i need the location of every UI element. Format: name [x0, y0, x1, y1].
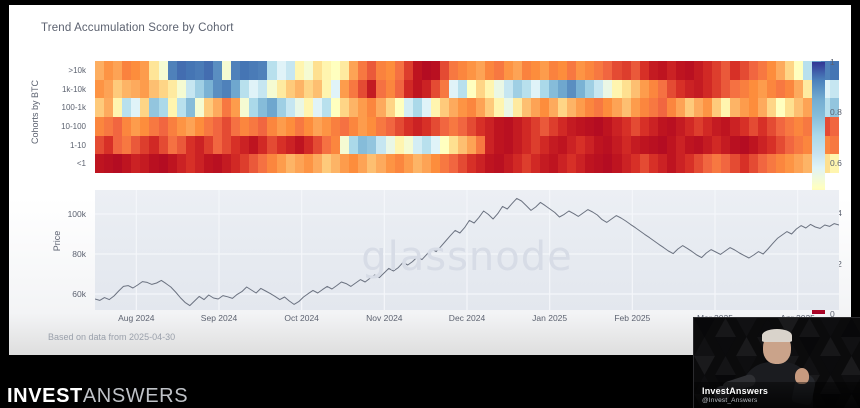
heatmap-cell — [449, 117, 458, 136]
heatmap-cell — [304, 61, 313, 80]
x-axis-tick: Jan 2025 — [532, 313, 567, 323]
heatmap-cell — [785, 80, 794, 99]
heatmap-cell — [794, 117, 803, 136]
heatmap-cell — [776, 154, 785, 173]
heatmap-cell — [440, 61, 449, 80]
heatmap-cell — [267, 98, 276, 117]
heatmap-cell — [640, 117, 649, 136]
heatmap-cell — [522, 117, 531, 136]
heatmap-cell — [558, 98, 567, 117]
heatmap-cell — [558, 80, 567, 99]
heatmap-cell — [422, 80, 431, 99]
heatmap-cell — [449, 154, 458, 173]
heatmap-cell — [594, 117, 603, 136]
heatmap-cell — [485, 61, 494, 80]
heatmap-cell — [494, 136, 503, 155]
heatmap-cell — [794, 136, 803, 155]
heatmap-y-axis-ticks: >10k1k-10k100-1k10-1001-10<1 — [52, 61, 90, 173]
heatmap-cell — [340, 98, 349, 117]
heatmap-cell — [694, 154, 703, 173]
heatmap-cell — [803, 98, 812, 117]
heatmap-cell — [404, 80, 413, 99]
heatmap-cell — [540, 61, 549, 80]
heatmap-cell — [440, 154, 449, 173]
x-axis-tick: Aug 2024 — [118, 313, 154, 323]
heatmap-cell — [558, 117, 567, 136]
wall-panel — [841, 337, 860, 356]
heatmap-cell — [149, 98, 158, 117]
heatmap-cell — [186, 80, 195, 99]
heatmap-cell — [113, 154, 122, 173]
heatmap-cell — [449, 98, 458, 117]
wall-panel — [841, 318, 860, 337]
heatmap-cell — [730, 98, 739, 117]
heatmap-cell — [249, 98, 258, 117]
heatmap-cell — [758, 98, 767, 117]
heatmap-cell — [740, 136, 749, 155]
heatmap-cell — [522, 61, 531, 80]
heatmap-cell — [440, 117, 449, 136]
heatmap-cell — [140, 117, 149, 136]
price-plot-area[interactable]: glassnode — [95, 190, 839, 310]
heatmap-cell — [295, 98, 304, 117]
heatmap-cell — [149, 80, 158, 99]
heatmap-cell — [286, 136, 295, 155]
heatmap-cell — [485, 80, 494, 99]
heatmap-cell — [376, 61, 385, 80]
heatmap-row — [95, 117, 839, 136]
heatmap-cell — [558, 154, 567, 173]
heatmap-cell — [322, 61, 331, 80]
heatmap-cell — [340, 80, 349, 99]
heatmap-cell — [386, 117, 395, 136]
heatmap-cell — [703, 98, 712, 117]
heatmap-cell — [313, 117, 322, 136]
heatmap-cell — [476, 154, 485, 173]
heatmap-chart: Cohorts by BTC >10k1k-10k100-1k10-1001-1… — [52, 57, 839, 177]
heatmap-cell — [258, 98, 267, 117]
heatmap-cell — [340, 136, 349, 155]
heatmap-cell — [267, 80, 276, 99]
heatmap-cell — [622, 117, 631, 136]
heatmap-cell — [177, 80, 186, 99]
heatmap-cell — [458, 98, 467, 117]
heatmap-cell — [104, 80, 113, 99]
price-y-tick: 60k — [72, 289, 86, 299]
heatmap-cell — [712, 80, 721, 99]
heatmap-cell — [204, 117, 213, 136]
heatmap-cell — [594, 154, 603, 173]
heatmap-cell — [640, 136, 649, 155]
heatmap-cell — [476, 98, 485, 117]
heatmap-cell — [168, 154, 177, 173]
heatmap-cell — [667, 98, 676, 117]
heatmap-cell — [476, 61, 485, 80]
heatmap-cell — [658, 154, 667, 173]
heatmap-cell — [249, 117, 258, 136]
heatmap-cell — [549, 136, 558, 155]
heatmap-cell — [113, 80, 122, 99]
data-date-footer: Based on data from 2025-04-30 — [48, 332, 175, 342]
heatmap-cell — [794, 154, 803, 173]
heatmap-cell — [376, 80, 385, 99]
heatmap-cell — [631, 80, 640, 99]
heatmap-cell — [304, 154, 313, 173]
heatmap-cell — [640, 154, 649, 173]
brand-logo: INVESTANSWERS — [7, 385, 188, 408]
heatmap-cell — [758, 154, 767, 173]
heatmap-cell — [712, 117, 721, 136]
wall-panel — [820, 356, 841, 375]
heatmap-cell — [367, 117, 376, 136]
heatmap-cell — [159, 80, 168, 99]
heatmap-y-tick: <1 — [52, 154, 90, 173]
heatmap-cell — [803, 136, 812, 155]
heatmap-cell — [458, 117, 467, 136]
heatmap-cell — [413, 136, 422, 155]
heatmap-cell — [131, 117, 140, 136]
heatmap-cell — [304, 98, 313, 117]
heatmap-cell — [612, 136, 621, 155]
heatmap-cell — [676, 80, 685, 99]
heatmap-cell — [113, 117, 122, 136]
heatmap-cell — [603, 80, 612, 99]
heatmap-cell — [113, 61, 122, 80]
heatmap-cell — [140, 136, 149, 155]
heatmap-cell — [440, 80, 449, 99]
heatmap-cell — [422, 136, 431, 155]
heatmap-cell — [749, 154, 758, 173]
heatmap-cell — [494, 61, 503, 80]
heatmap-cell — [494, 117, 503, 136]
heatmap-cell — [513, 80, 522, 99]
heatmap-cell — [422, 154, 431, 173]
heatmap-cell — [131, 98, 140, 117]
heatmap-cell — [803, 61, 812, 80]
heatmap-cell — [631, 98, 640, 117]
heatmap-cell — [267, 136, 276, 155]
heatmap-cell — [612, 154, 621, 173]
heatmap-cell — [240, 98, 249, 117]
heatmap-cell — [585, 61, 594, 80]
heatmap-cell — [685, 80, 694, 99]
heatmap-y-axis-label: Cohorts by BTC — [30, 60, 44, 164]
heatmap-cell — [712, 136, 721, 155]
heatmap-cell — [240, 154, 249, 173]
heatmap-cell — [413, 61, 422, 80]
heatmap-cell — [367, 136, 376, 155]
heatmap-cell — [249, 61, 258, 80]
heatmap-cell — [594, 80, 603, 99]
heatmap-cell — [195, 61, 204, 80]
heatmap-cell — [95, 136, 104, 155]
heatmap-cell — [667, 136, 676, 155]
heatmap-cell — [476, 117, 485, 136]
heatmap-cell — [322, 80, 331, 99]
heatmap-cell — [295, 61, 304, 80]
heatmap-cell — [522, 136, 531, 155]
heatmap-cell — [676, 136, 685, 155]
heatmap-cell — [340, 117, 349, 136]
price-y-tick: 80k — [72, 249, 86, 259]
heatmap-cell — [222, 80, 231, 99]
heatmap-cell — [676, 154, 685, 173]
heatmap-cell — [395, 98, 404, 117]
heatmap-cell — [295, 154, 304, 173]
heatmap-cell — [631, 117, 640, 136]
heatmap-cell — [195, 136, 204, 155]
heatmap-cell — [703, 80, 712, 99]
heatmap-cell — [622, 154, 631, 173]
heatmap-cell — [640, 98, 649, 117]
heatmap-cell — [340, 154, 349, 173]
heatmap-cell — [730, 80, 739, 99]
heatmap-cell — [358, 136, 367, 155]
heatmap-cell — [376, 136, 385, 155]
heatmap-cell — [213, 154, 222, 173]
heatmap-y-tick: >10k — [52, 61, 90, 80]
heatmap-cell — [404, 136, 413, 155]
heatmap-cell — [395, 154, 404, 173]
heatmap-cell — [685, 117, 694, 136]
wall-panel — [715, 318, 736, 337]
heatmap-cell — [204, 80, 213, 99]
heatmap-cell — [594, 136, 603, 155]
heatmap-cell — [313, 80, 322, 99]
heatmap-cell — [767, 61, 776, 80]
heatmap-cell — [222, 61, 231, 80]
heatmap-cell — [649, 61, 658, 80]
heatmap-cell — [186, 117, 195, 136]
heatmap-cell — [376, 117, 385, 136]
heatmap-cell — [549, 61, 558, 80]
heatmap-cell — [304, 117, 313, 136]
heatmap-cell — [612, 98, 621, 117]
price-chart: Price 100k80k60k glassnode — [52, 190, 839, 310]
heatmap-cell — [159, 117, 168, 136]
heatmap-cell — [295, 136, 304, 155]
heatmap-cell — [113, 136, 122, 155]
video-frame: Trend Accumulation Score by Cohort Cohor… — [0, 0, 860, 408]
heatmap-cell — [313, 136, 322, 155]
x-axis-tick: Sep 2024 — [201, 313, 237, 323]
heatmap-cell — [349, 61, 358, 80]
heatmap-cell — [168, 98, 177, 117]
heatmap-cell — [322, 136, 331, 155]
heatmap-cell — [712, 154, 721, 173]
heatmap-cell — [277, 136, 286, 155]
heatmap-cell — [331, 154, 340, 173]
heatmap-cell — [258, 61, 267, 80]
heatmap-cell — [721, 61, 730, 80]
heatmap-cell — [730, 61, 739, 80]
heatmap-cell — [703, 136, 712, 155]
heatmap-cell — [785, 61, 794, 80]
wall-panel — [799, 337, 820, 356]
heatmap-cell — [631, 154, 640, 173]
heatmap-cell — [458, 80, 467, 99]
heatmap-cell — [649, 98, 658, 117]
heatmap-cell — [386, 154, 395, 173]
heatmap-cell — [649, 80, 658, 99]
heatmap-cell — [431, 98, 440, 117]
heatmap-cell — [240, 136, 249, 155]
brand-logo-part2: ANSWERS — [83, 385, 188, 407]
heatmap-cell — [140, 61, 149, 80]
heatmap-cell — [449, 80, 458, 99]
heatmap-cell — [513, 154, 522, 173]
heatmap-row — [95, 80, 839, 99]
heatmap-cell — [740, 98, 749, 117]
wall-panel — [694, 318, 715, 337]
heatmap-cell — [658, 98, 667, 117]
heatmap-cell — [204, 61, 213, 80]
heatmap-cell — [240, 80, 249, 99]
heatmap-cell — [331, 98, 340, 117]
heatmap-cell — [222, 154, 231, 173]
heatmap-grid[interactable] — [95, 61, 839, 173]
heatmap-cell — [458, 154, 467, 173]
heatmap-cell — [131, 136, 140, 155]
heatmap-cell — [376, 98, 385, 117]
heatmap-cell — [649, 117, 658, 136]
heatmap-y-tick: 1k-10k — [52, 80, 90, 99]
heatmap-cell — [767, 136, 776, 155]
wall-panel — [736, 337, 757, 356]
heatmap-row — [95, 154, 839, 173]
heatmap-cell — [522, 154, 531, 173]
heatmap-cell — [258, 80, 267, 99]
heatmap-cell — [758, 61, 767, 80]
heatmap-cell — [286, 61, 295, 80]
heatmap-cell — [694, 136, 703, 155]
heatmap-cell — [467, 136, 476, 155]
heatmap-cell — [667, 80, 676, 99]
heatmap-cell — [494, 80, 503, 99]
heatmap-cell — [213, 80, 222, 99]
heatmap-cell — [667, 61, 676, 80]
heatmap-cell — [494, 154, 503, 173]
heatmap-cell — [386, 136, 395, 155]
heatmap-cell — [140, 80, 149, 99]
heatmap-cell — [749, 80, 758, 99]
heatmap-cell — [740, 61, 749, 80]
heatmap-cell — [540, 98, 549, 117]
heatmap-cell — [267, 61, 276, 80]
heatmap-cell — [249, 80, 258, 99]
webcam-overlay[interactable]: InvestAnswers @Invest_Answers — [693, 317, 860, 408]
heatmap-cell — [749, 98, 758, 117]
heatmap-cell — [721, 136, 730, 155]
heatmap-cell — [549, 80, 558, 99]
heatmap-cell — [95, 98, 104, 117]
heatmap-cell — [458, 136, 467, 155]
heatmap-cell — [585, 98, 594, 117]
heatmap-cell — [422, 98, 431, 117]
wall-panel — [694, 337, 715, 356]
heatmap-cell — [349, 117, 358, 136]
heatmap-cell — [258, 154, 267, 173]
heatmap-cell — [631, 136, 640, 155]
heatmap-cell — [494, 98, 503, 117]
heatmap-cell — [740, 154, 749, 173]
heatmap-cell — [603, 117, 612, 136]
heatmap-cell — [776, 136, 785, 155]
heatmap-cell — [712, 98, 721, 117]
heatmap-cell — [540, 154, 549, 173]
heatmap-cell — [485, 98, 494, 117]
heatmap-y-tick: 1-10 — [52, 136, 90, 155]
heatmap-cell — [449, 61, 458, 80]
heatmap-cell — [159, 61, 168, 80]
heatmap-cell — [776, 98, 785, 117]
heatmap-cell — [177, 61, 186, 80]
heatmap-cell — [749, 117, 758, 136]
heatmap-cell — [776, 117, 785, 136]
heatmap-cell — [467, 117, 476, 136]
heatmap-cell — [404, 61, 413, 80]
heatmap-cell — [531, 61, 540, 80]
heatmap-cell — [513, 98, 522, 117]
colorbar-tick: 0.6 — [830, 158, 842, 168]
heatmap-cell — [395, 61, 404, 80]
heatmap-cell — [322, 117, 331, 136]
heatmap-cell — [504, 61, 513, 80]
heatmap-cell — [531, 98, 540, 117]
heatmap-cell — [195, 98, 204, 117]
heatmap-cell — [504, 80, 513, 99]
x-axis-tick: Nov 2024 — [366, 313, 402, 323]
heatmap-cell — [331, 80, 340, 99]
heatmap-cell — [149, 61, 158, 80]
heatmap-cell — [431, 136, 440, 155]
heatmap-cell — [730, 136, 739, 155]
heatmap-cell — [685, 98, 694, 117]
heatmap-cell — [222, 117, 231, 136]
heatmap-cell — [186, 98, 195, 117]
heatmap-cell — [476, 80, 485, 99]
heatmap-cell — [603, 136, 612, 155]
heatmap-cell — [576, 154, 585, 173]
heatmap-cell — [721, 80, 730, 99]
heatmap-cell — [395, 117, 404, 136]
heatmap-cell — [131, 61, 140, 80]
heatmap-cell — [567, 98, 576, 117]
heatmap-cell — [685, 136, 694, 155]
heatmap-cell — [694, 98, 703, 117]
heatmap-cell — [195, 117, 204, 136]
heatmap-cell — [485, 117, 494, 136]
wall-panel — [715, 337, 736, 356]
heatmap-cell — [603, 98, 612, 117]
heatmap-cell — [558, 61, 567, 80]
heatmap-cell — [531, 136, 540, 155]
heatmap-cell — [567, 117, 576, 136]
heatmap-cell — [794, 80, 803, 99]
heatmap-cell — [177, 136, 186, 155]
heatmap-cell — [685, 154, 694, 173]
heatmap-cell — [776, 61, 785, 80]
heatmap-cell — [367, 98, 376, 117]
heatmap-cell — [622, 80, 631, 99]
heatmap-cell — [277, 61, 286, 80]
x-axis-tick: Feb 2025 — [614, 313, 650, 323]
heatmap-cell — [676, 61, 685, 80]
heatmap-cell — [395, 80, 404, 99]
heatmap-cell — [113, 98, 122, 117]
heatmap-cell — [612, 117, 621, 136]
heatmap-cell — [658, 80, 667, 99]
